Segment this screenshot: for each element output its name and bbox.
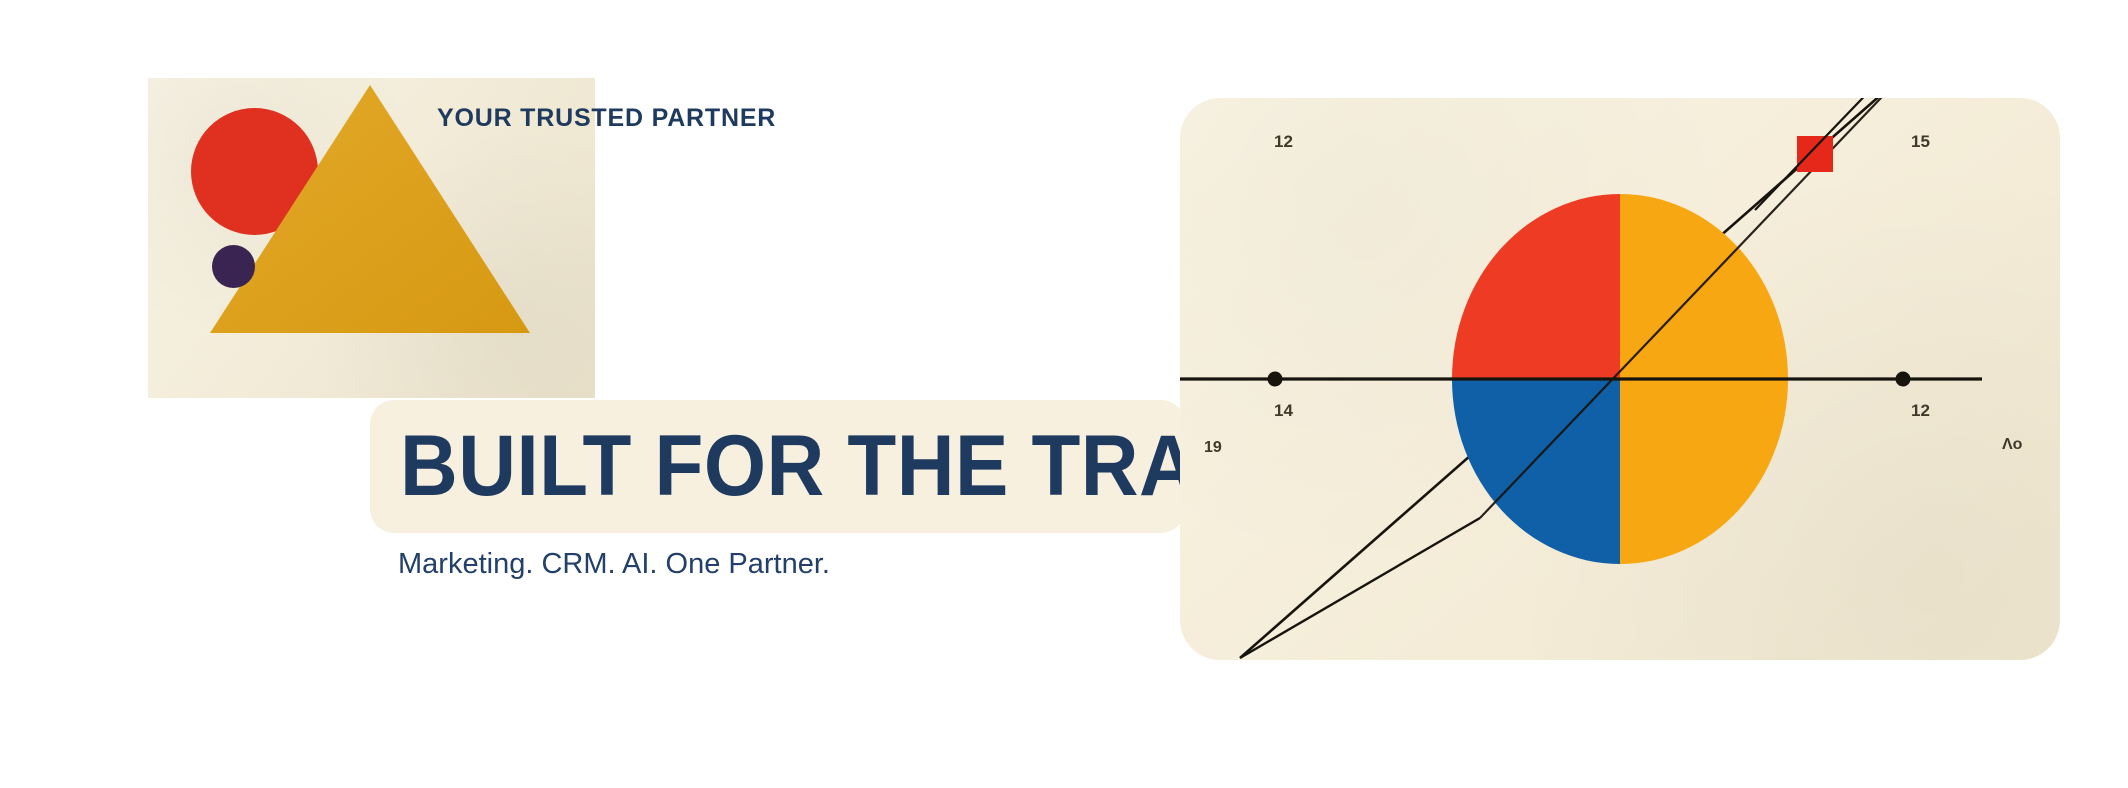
pie-slice-bottom-right bbox=[1620, 379, 1788, 564]
chart-tick-top-left: 12 bbox=[1274, 132, 1293, 152]
diagonal-trend-line-lower bbox=[1240, 518, 1480, 658]
axis-dot-right bbox=[1896, 372, 1911, 387]
chart-tick-top-right: 15 bbox=[1911, 132, 1930, 152]
chart-card: 12 15 14 12 19 Λo bbox=[1180, 98, 2060, 660]
pie-slice-top-left bbox=[1452, 194, 1620, 379]
chart-corner-mark-bottom-left: 19 bbox=[1204, 439, 1222, 457]
purple-dot-shape bbox=[212, 245, 255, 288]
pie-slice-bottom-left bbox=[1452, 379, 1620, 564]
quadrant-pie-chart bbox=[1180, 98, 2060, 660]
chart-corner-mark-bottom-right: Λo bbox=[2002, 436, 2022, 454]
hero-subtitle: Marketing. CRM. AI. One Partner. bbox=[398, 548, 830, 581]
hero-eyebrow: YOUR TRUSTED PARTNER bbox=[437, 104, 776, 133]
chart-tick-bottom-left: 14 bbox=[1274, 401, 1293, 421]
red-square-marker bbox=[1797, 136, 1833, 172]
axis-dot-left bbox=[1268, 372, 1283, 387]
chart-tick-bottom-right: 12 bbox=[1911, 401, 1930, 421]
hero-banner: YOUR TRUSTED PARTNER BUILT FOR THE TRADE… bbox=[0, 0, 2128, 788]
